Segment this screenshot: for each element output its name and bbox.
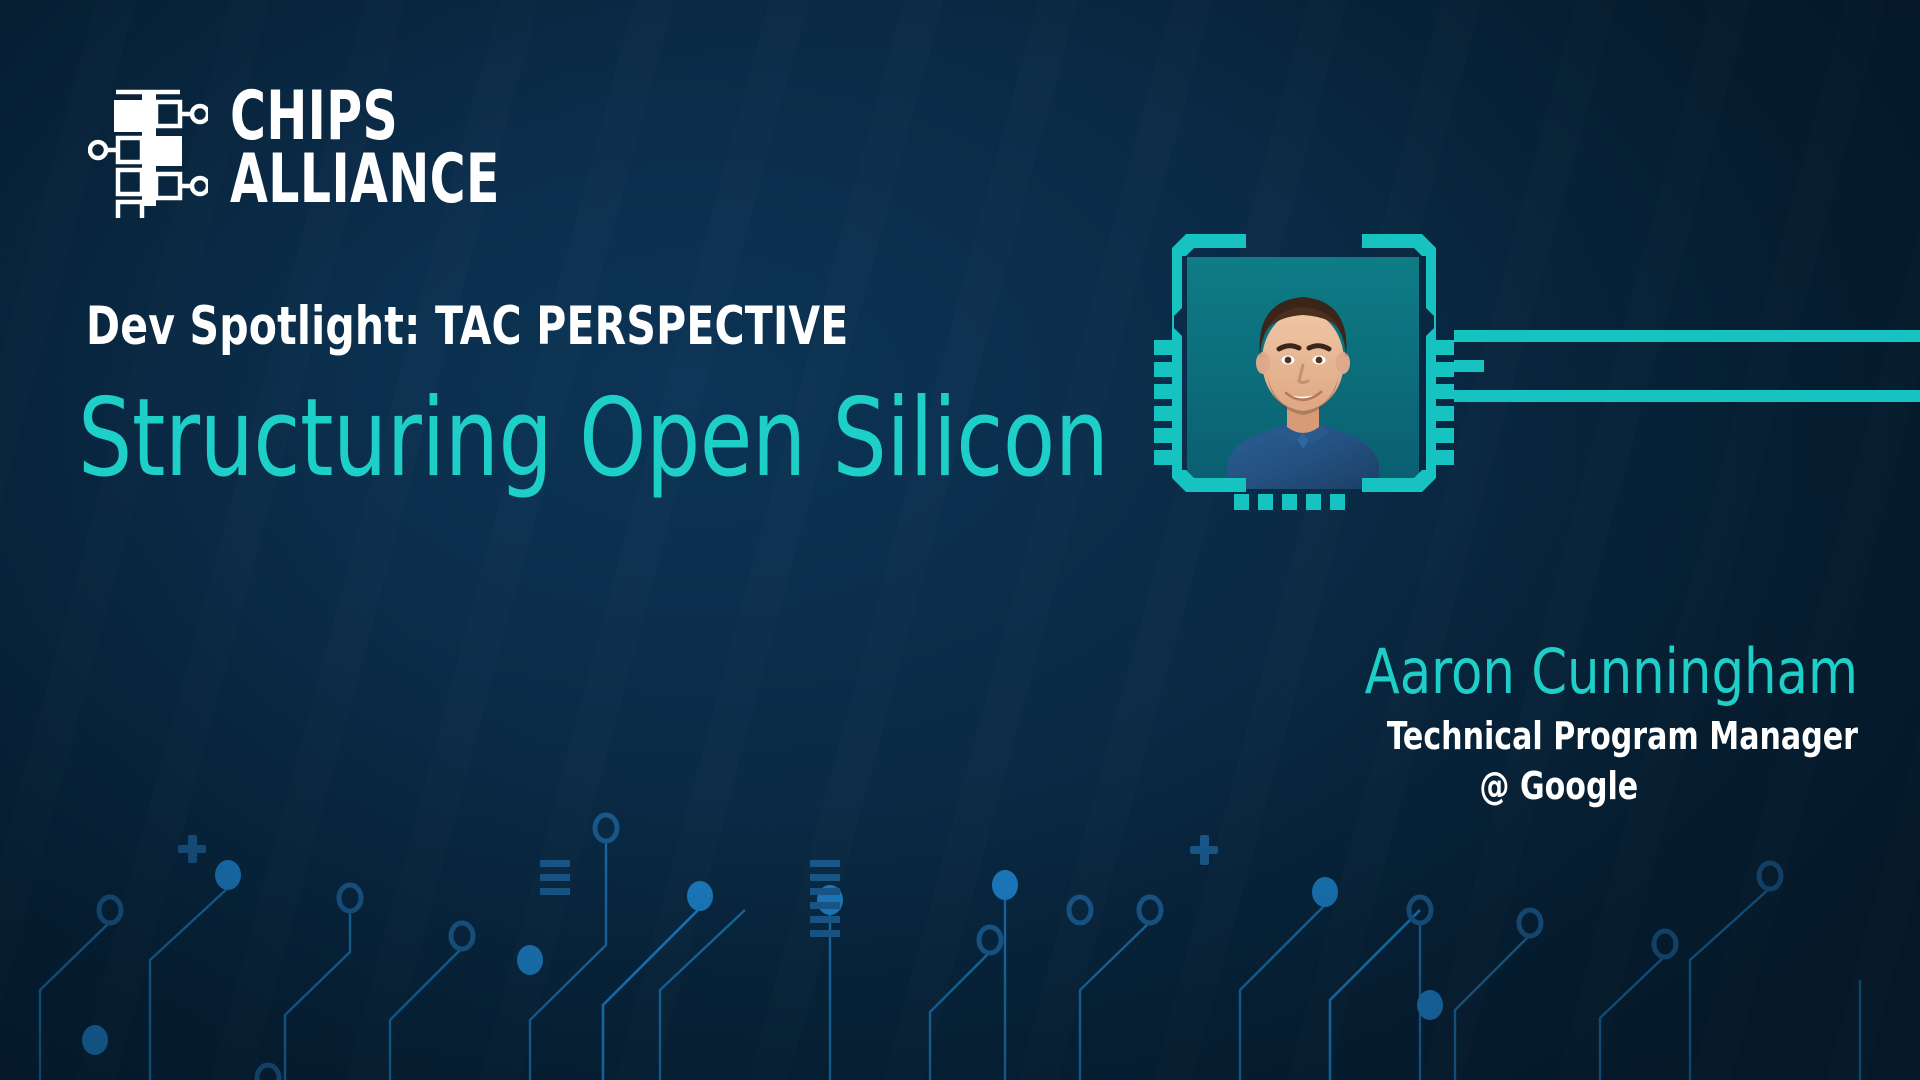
- logo-wordmark-line1: CHIPS: [230, 85, 500, 148]
- slide-headline: Structuring Open Silicon: [78, 382, 1108, 495]
- chips-alliance-logo: CHIPS ALLIANCE: [88, 78, 567, 218]
- speaker-org: @ Google: [1365, 761, 1858, 811]
- speaker-role: Technical Program Manager: [1365, 711, 1858, 761]
- logo-wordmark: CHIPS ALLIANCE: [230, 85, 567, 211]
- slide-eyebrow: Dev Spotlight: TAC PERSPECTIVE: [86, 296, 848, 357]
- chip-frame-graphic: [1150, 212, 1920, 512]
- speaker-name: Aaron Cunningham: [1343, 640, 1858, 703]
- speaker-info: Aaron Cunningham Technical Program Manag…: [1298, 640, 1858, 812]
- slide-canvas: CHIPS ALLIANCE Dev Spotlight: TAC PERSPE…: [0, 0, 1920, 1080]
- logo-wordmark-line2: ALLIANCE: [230, 148, 500, 211]
- chips-alliance-circuit-mark: [88, 78, 208, 218]
- speaker-portrait-chip-frame: [1150, 212, 1920, 512]
